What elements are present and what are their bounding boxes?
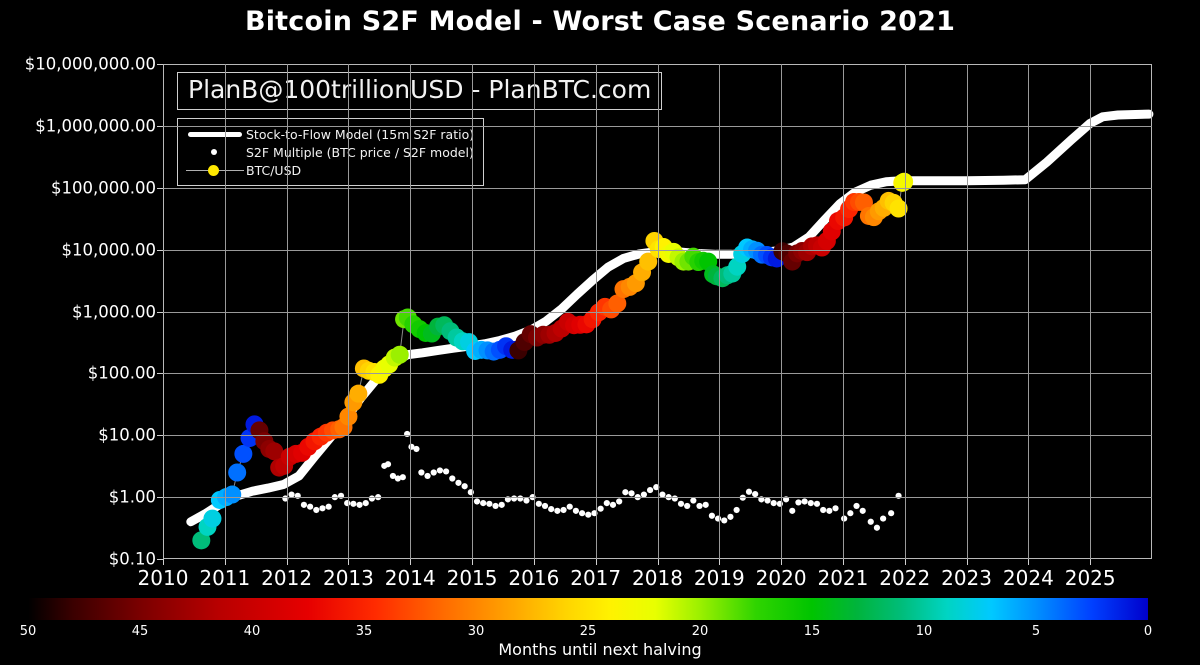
y-axis-tick (157, 250, 163, 251)
gridline-horizontal (163, 188, 1152, 189)
y-axis-tick (157, 497, 163, 498)
y-axis-label: $10.00 (98, 426, 156, 445)
x-axis-tick (905, 559, 906, 565)
y-axis-label: $1,000,000.00 (35, 116, 156, 135)
x-axis-tick (719, 559, 720, 565)
y-axis-label: $1,000.00 (72, 302, 156, 321)
y-axis-tick (157, 373, 163, 374)
y-axis-tick (157, 64, 163, 65)
x-axis-tick (348, 559, 349, 565)
colorbar-tick-label: 0 (1144, 624, 1152, 639)
x-axis-label: 2013 (323, 566, 374, 590)
x-axis-label: 2017 (570, 566, 621, 590)
x-axis-label: 2025 (1065, 566, 1116, 590)
colorbar-title: Months until next halving (0, 640, 1200, 659)
y-axis-tick (157, 126, 163, 127)
gridline-horizontal (163, 373, 1152, 374)
legend-label-btcusd: BTC/USD (246, 163, 301, 178)
legend-item-model: Stock-to-Flow Model (15m S2F ratio) (184, 125, 474, 143)
x-axis-label: 2024 (1003, 566, 1054, 590)
x-axis-tick (1028, 559, 1029, 565)
x-axis-label: 2020 (756, 566, 807, 590)
y-axis-tick (157, 559, 163, 560)
x-axis-tick (1090, 559, 1091, 565)
y-axis-label: $10,000,000.00 (25, 55, 156, 74)
colorbar-tick-label: 35 (356, 624, 373, 639)
gridline-horizontal (163, 497, 1152, 498)
gridline-horizontal (163, 312, 1152, 313)
y-axis-label: $1.00 (109, 488, 156, 507)
legend-item-btcusd: BTC/USD (184, 161, 474, 179)
x-axis-tick (163, 559, 164, 565)
colorbar-tick-label: 40 (244, 624, 261, 639)
x-axis-label: 2011 (199, 566, 250, 590)
legend-dot-small-icon (184, 143, 246, 161)
colorbar-tick-label: 15 (804, 624, 821, 639)
y-axis-label: $100.00 (88, 364, 156, 383)
watermark-label: PlanB@100trillionUSD - PlanBTC.com (177, 72, 662, 110)
gridline-horizontal (163, 435, 1152, 436)
colorbar-tick-label: 20 (692, 624, 709, 639)
plot-area: PlanB@100trillionUSD - PlanBTC.com Stock… (163, 64, 1152, 559)
legend-item-multiple: S2F Multiple (BTC price / S2F model) (184, 143, 474, 161)
x-axis-label: 2015 (447, 566, 498, 590)
colorbar-tick-label: 10 (916, 624, 933, 639)
x-axis-tick (534, 559, 535, 565)
x-axis-label: 2010 (138, 566, 189, 590)
y-axis-label: $100,000.00 (51, 178, 156, 197)
x-axis-label: 2014 (385, 566, 436, 590)
x-axis-label: 2018 (632, 566, 683, 590)
colorbar (28, 598, 1148, 620)
colorbar-tick-label: 5 (1032, 624, 1040, 639)
legend-dot-yellow-icon (184, 161, 246, 179)
x-axis-tick (410, 559, 411, 565)
y-axis-tick (157, 435, 163, 436)
x-axis-tick (781, 559, 782, 565)
chart-root: Bitcoin S2F Model - Worst Case Scenario … (0, 0, 1200, 665)
x-axis-tick (843, 559, 844, 565)
chart-legend: Stock-to-Flow Model (15m S2F ratio) S2F … (177, 118, 484, 186)
x-axis-tick (658, 559, 659, 565)
legend-label-model: Stock-to-Flow Model (15m S2F ratio) (246, 127, 474, 142)
colorbar-tick-label: 25 (580, 624, 597, 639)
colorbar-tick-label: 50 (20, 624, 37, 639)
colorbar-gradient (28, 598, 1148, 620)
x-axis-label: 2021 (817, 566, 868, 590)
x-axis-label: 2022 (879, 566, 930, 590)
legend-label-multiple: S2F Multiple (BTC price / S2F model) (246, 145, 474, 160)
x-axis-tick (967, 559, 968, 565)
x-axis-label: 2012 (261, 566, 312, 590)
x-axis-label: 2019 (694, 566, 745, 590)
page-title: Bitcoin S2F Model - Worst Case Scenario … (0, 6, 1200, 37)
legend-line-icon (184, 125, 246, 143)
x-axis-label: 2016 (508, 566, 559, 590)
x-axis-label: 2023 (941, 566, 992, 590)
x-axis-tick (596, 559, 597, 565)
y-axis-label: $10,000.00 (62, 240, 156, 259)
colorbar-tick-label: 45 (132, 624, 149, 639)
y-axis-tick (157, 312, 163, 313)
y-axis-tick (157, 188, 163, 189)
x-axis-tick (287, 559, 288, 565)
gridline-horizontal (163, 126, 1152, 127)
x-axis-tick (472, 559, 473, 565)
colorbar-tick-label: 30 (468, 624, 485, 639)
gridline-horizontal (163, 250, 1152, 251)
x-axis-tick (225, 559, 226, 565)
